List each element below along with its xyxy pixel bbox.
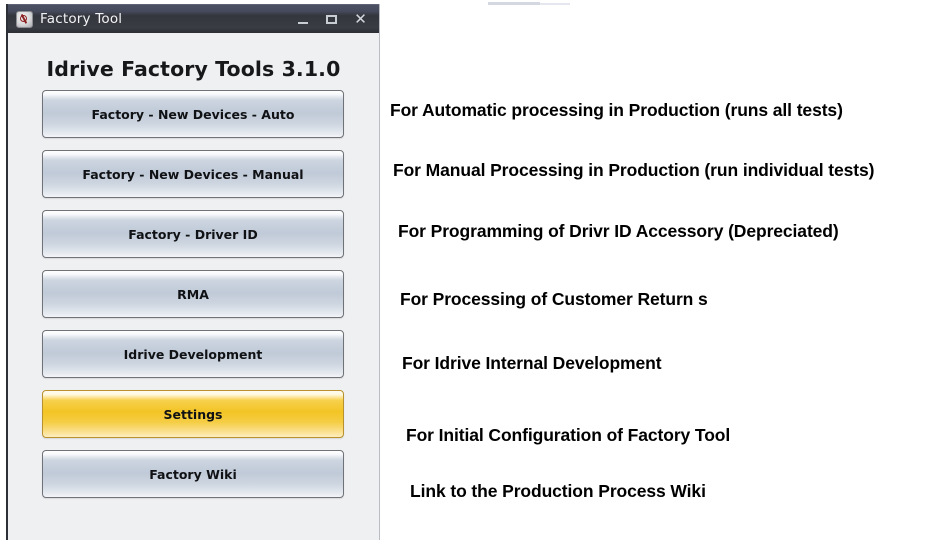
annotation-rma: For Processing of Customer Return s xyxy=(400,289,708,310)
button-factory-new-devices-manual[interactable]: Factory - New Devices - Manual xyxy=(42,150,344,198)
annotation-idrive-development: For Idrive Internal Development xyxy=(402,353,661,374)
window-title-bar: Factory Tool ✕ xyxy=(8,4,379,33)
minimize-icon[interactable] xyxy=(288,7,317,31)
window-controls: ✕ xyxy=(288,7,379,31)
annotation-factory-wiki: Link to the Production Process Wiki xyxy=(410,481,706,502)
annotation-list: For Automatic processing in Production (… xyxy=(380,0,948,540)
window-body: Idrive Factory Tools 3.1.0 Factory - New… xyxy=(8,33,379,540)
button-factory-new-devices-auto[interactable]: Factory - New Devices - Auto xyxy=(42,90,344,138)
annotation-factory-new-devices-auto: For Automatic processing in Production (… xyxy=(390,100,843,121)
factory-tool-logo-icon xyxy=(16,11,33,28)
page-title: Idrive Factory Tools 3.1.0 xyxy=(8,33,379,81)
tool-button-list: Factory - New Devices - AutoFactory - Ne… xyxy=(42,90,344,510)
maximize-icon[interactable] xyxy=(317,7,346,31)
annotation-factory-driver-id: For Programming of Drivr ID Accessory (D… xyxy=(398,221,839,242)
close-icon[interactable]: ✕ xyxy=(346,7,375,31)
annotation-settings: For Initial Configuration of Factory Too… xyxy=(406,425,730,446)
button-factory-wiki[interactable]: Factory Wiki xyxy=(42,450,344,498)
button-idrive-development[interactable]: Idrive Development xyxy=(42,330,344,378)
factory-tool-window: Factory Tool ✕ Idrive Factory Tools 3.1.… xyxy=(6,4,380,540)
window-title-text: Factory Tool xyxy=(40,11,122,27)
button-factory-driver-id[interactable]: Factory - Driver ID xyxy=(42,210,344,258)
button-rma[interactable]: RMA xyxy=(42,270,344,318)
button-settings[interactable]: Settings xyxy=(42,390,344,438)
annotation-factory-new-devices-manual: For Manual Processing in Production (run… xyxy=(393,160,874,181)
